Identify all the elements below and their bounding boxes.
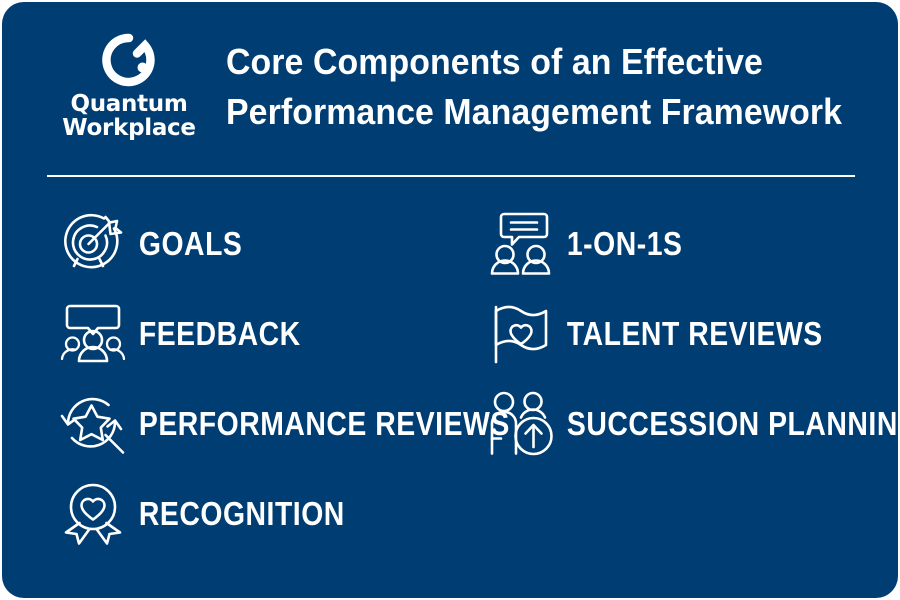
brand-logo: Quantum Workplace [36, 31, 222, 141]
list-item-label: SUCCESSION PLANNING [560, 407, 898, 440]
brand-line-2: Workplace [62, 117, 195, 141]
two-people-chat-icon [482, 207, 560, 279]
list-item-label: FEEDBACK [132, 317, 301, 350]
list-item: SUCCESSION PLANNING [482, 378, 898, 468]
people-arrow-up-icon [482, 387, 560, 459]
infographic-card: Quantum Workplace Core Components of an … [2, 2, 898, 598]
target-arrow-icon [54, 207, 132, 279]
components-column-right: 1-ON-1S TALENT REVIEWS [482, 198, 898, 468]
title-line-2: Performance Management Framework [226, 87, 842, 137]
quantum-q-mark-icon [99, 31, 159, 89]
list-item: RECOGNITION [54, 468, 571, 558]
list-item-label: TALENT REVIEWS [560, 317, 823, 350]
brand-line-1: Quantum [62, 93, 195, 117]
title-line-1: Core Components of an Effective [226, 37, 842, 87]
list-item: 1-ON-1S [482, 198, 898, 288]
star-cycle-search-icon [54, 387, 132, 459]
list-item-label: RECOGNITION [132, 497, 345, 530]
header-divider [47, 175, 855, 177]
flag-heart-icon [482, 297, 560, 369]
brand-wordmark: Quantum Workplace [62, 93, 195, 141]
header: Quantum Workplace Core Components of an … [2, 2, 898, 170]
list-item-label: PERFORMANCE REVIEWS [132, 407, 510, 440]
list-item-label: 1-ON-1S [560, 227, 682, 260]
page-title: Core Components of an Effective Performa… [226, 35, 881, 137]
group-speech-bubble-icon [54, 297, 132, 369]
list-item: TALENT REVIEWS [482, 288, 898, 378]
award-ribbon-heart-icon [54, 477, 132, 549]
list-item-label: GOALS [132, 227, 242, 260]
